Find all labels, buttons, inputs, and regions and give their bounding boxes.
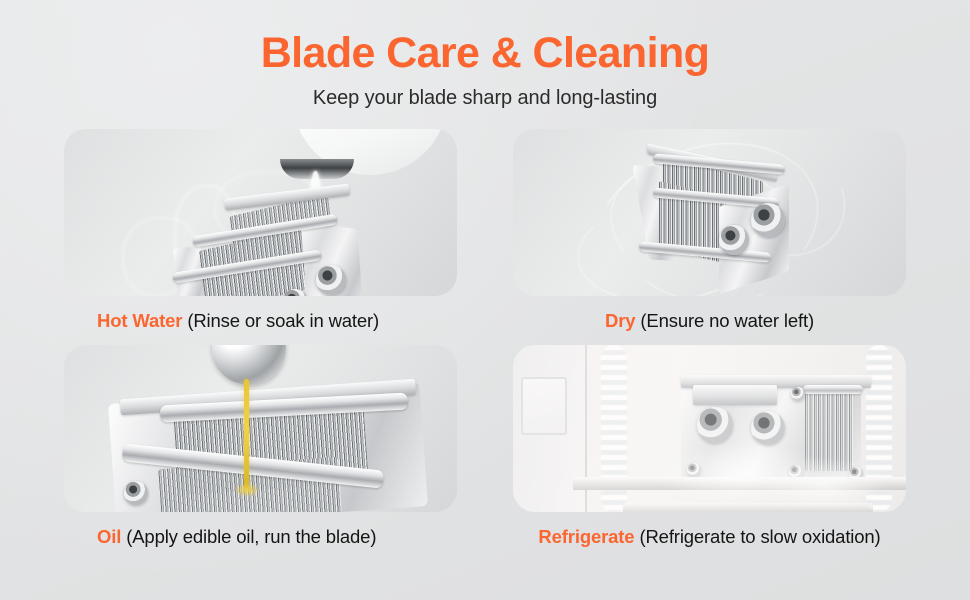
care-step-card-dry: Dry (Ensure no water left) (513, 129, 906, 332)
oil-detail: (Apply edible oil, run the blade) (126, 526, 376, 547)
blade-bearing-nut-icon (316, 265, 346, 295)
dry-illustration (513, 129, 906, 296)
care-step-card-oil: Oil (Apply edible oil, run the blade) (64, 345, 457, 548)
care-steps-grid: Hot Water (Rinse or soak in water) (64, 129, 906, 548)
dry-image-panel (513, 129, 906, 296)
blade-bearing-nut-icon (124, 481, 148, 505)
refrigerate-caption: Refrigerate (Refrigerate to slow oxidati… (513, 526, 906, 548)
blade-label-plate-icon (693, 385, 777, 405)
refrigerate-illustration (513, 345, 906, 512)
oil-stream-icon (244, 379, 249, 489)
page-title: Blade Care & Cleaning (0, 31, 970, 76)
hot-water-detail: (Rinse or soak in water) (187, 310, 379, 331)
oil-illustration (64, 345, 457, 512)
care-step-card-hot-water: Hot Water (Rinse or soak in water) (64, 129, 457, 332)
oil-keyword: Oil (97, 526, 121, 547)
dry-keyword: Dry (605, 310, 635, 331)
hot-water-image-panel (64, 129, 457, 296)
refrigerate-image-panel (513, 345, 906, 512)
blade-cross-rod-icon (803, 385, 863, 394)
cold-mist-icon (759, 457, 889, 511)
hot-water-keyword: Hot Water (97, 310, 182, 331)
refrigerate-keyword: Refrigerate (538, 526, 634, 547)
blade-bearing-nut-icon (719, 225, 749, 255)
dry-detail: (Ensure no water left) (640, 310, 814, 331)
refrigerate-detail: (Refrigerate to slow oxidation) (639, 526, 880, 547)
hot-water-illustration (64, 129, 457, 296)
page-subtitle: Keep your blade sharp and long-lasting (0, 87, 970, 110)
blade-bearing-nut-icon (751, 411, 785, 445)
refrigerator-door-bin-icon (521, 377, 567, 435)
blade-bearing-nut-icon (697, 407, 733, 443)
page-header: Blade Care & Cleaning Keep your blade sh… (0, 0, 970, 110)
dry-caption: Dry (Ensure no water left) (513, 310, 906, 332)
oil-caption: Oil (Apply edible oil, run the blade) (64, 526, 457, 548)
blade-bearing-nut-icon (751, 203, 785, 237)
oil-image-panel (64, 345, 457, 512)
care-step-card-refrigerate: Refrigerate (Refrigerate to slow oxidati… (513, 345, 906, 548)
oil-spoon-icon (212, 345, 286, 385)
hot-water-caption: Hot Water (Rinse or soak in water) (64, 310, 457, 332)
